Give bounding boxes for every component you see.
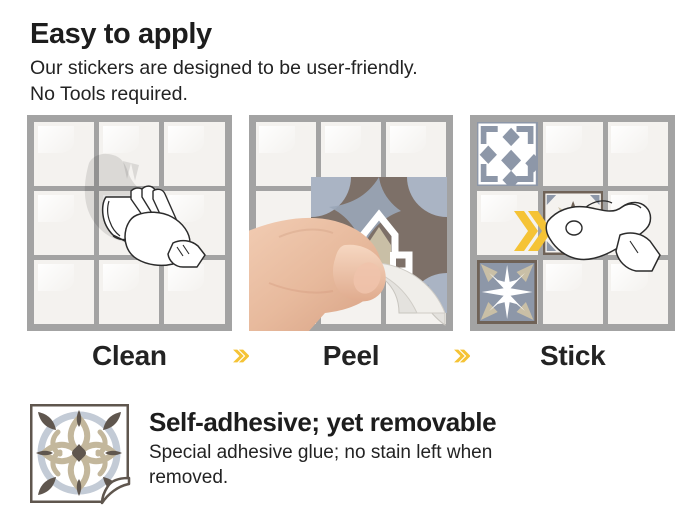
step-label-peel: Peel [249, 340, 454, 372]
feature-section: Self-adhesive; yet removable Special adh… [28, 402, 674, 505]
step-separator-2 [453, 341, 470, 371]
feature-title: Self-adhesive; yet removable [149, 408, 496, 438]
hand-wiping-cloth-icon [27, 115, 232, 331]
subtitle-line-2: No Tools required. [30, 82, 670, 108]
panel-stick [470, 115, 675, 331]
feature-text: Self-adhesive; yet removable Special adh… [149, 402, 496, 505]
panel-clean [27, 115, 232, 331]
double-chevron-right-icon [232, 341, 249, 371]
page-title: Easy to apply [30, 18, 670, 50]
header: Easy to apply Our stickers are designed … [30, 18, 670, 108]
infographic-page: Easy to apply Our stickers are designed … [0, 0, 700, 532]
hand-sticking-icon [470, 115, 675, 331]
ornate-tile-peel-corner-icon [28, 402, 131, 505]
feature-body: Special adhesive glue; no stain left whe… [149, 441, 496, 490]
double-chevron-right-icon [453, 341, 470, 371]
panel-peel [249, 115, 454, 331]
page-subtitle: Our stickers are designed to be user-fri… [30, 56, 670, 107]
step-label-clean: Clean [27, 340, 232, 372]
subtitle-line-1: Our stickers are designed to be user-fri… [30, 56, 670, 82]
feature-icon-wrapper [28, 402, 131, 505]
feature-body-line-2: removed. [149, 466, 496, 491]
hand-peeling-icon [249, 115, 454, 331]
step-labels-row: Clean Peel Stick [27, 334, 675, 378]
steps-illustration-row [27, 115, 675, 331]
feature-body-line-1: Special adhesive glue; no stain left whe… [149, 441, 496, 466]
step-label-stick: Stick [470, 340, 675, 372]
step-separator-1 [232, 341, 249, 371]
